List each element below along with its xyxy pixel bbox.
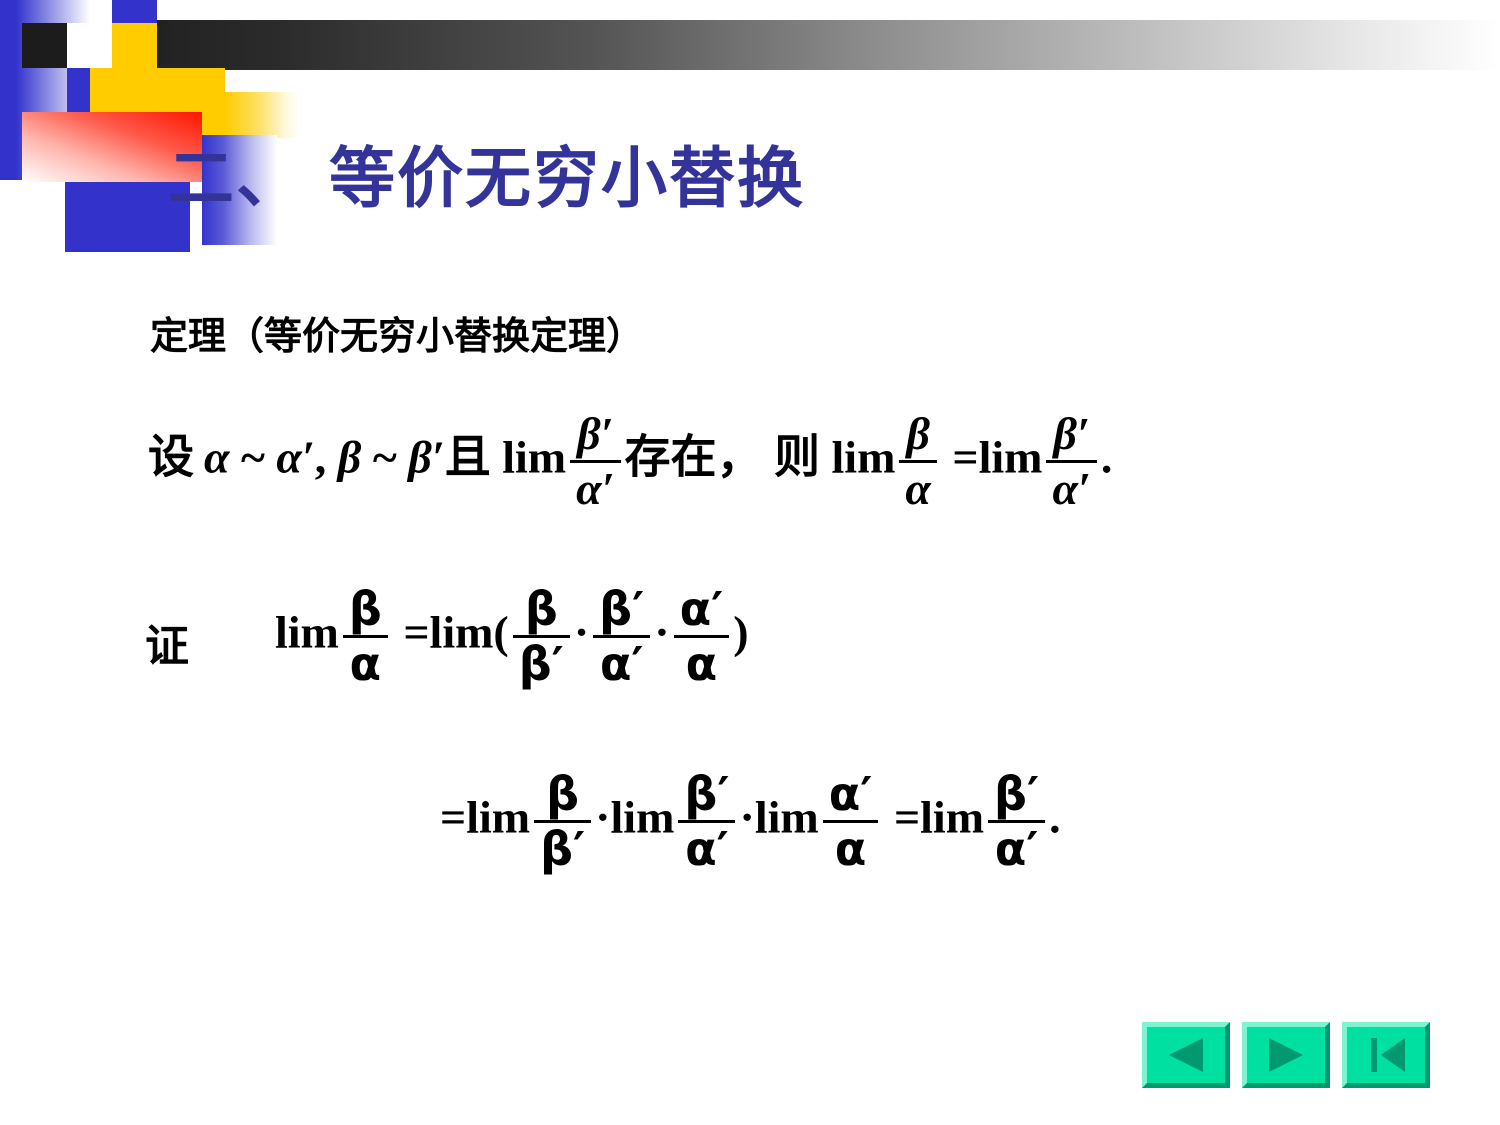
setup-exists: 存在，: [625, 429, 763, 483]
frac-denominator: α: [823, 825, 879, 873]
fraction-alpha-prime-over-alpha: α′α: [674, 585, 730, 689]
slide-navigation: [1142, 1022, 1430, 1088]
setup-prefix: 设: [148, 429, 194, 483]
setup-conj: 且: [445, 429, 491, 483]
first-slide-button[interactable]: [1342, 1022, 1430, 1088]
frac-denominator: β′: [534, 825, 591, 873]
setup-tilde-2: ~: [373, 431, 397, 482]
frac-denominator: α′: [678, 825, 735, 873]
setup-period: .: [1101, 431, 1113, 482]
setup-comma: ,: [315, 431, 327, 482]
proof2-dot-2: ·: [739, 791, 754, 842]
setup-lim-3: lim: [979, 431, 1043, 482]
frac-numerator: β: [343, 585, 388, 633]
frac-denominator: α: [343, 640, 388, 688]
frac-numerator: β′: [988, 770, 1045, 818]
proof-line-2: =limββ′·limβ′α′·limα′α =limβ′α′.: [440, 770, 1061, 874]
proof1-dot-2: ·: [654, 606, 669, 657]
setup-tilde-1: ~: [241, 431, 265, 482]
proof1-equals: =: [403, 606, 429, 657]
frac-numerator: β′: [1046, 410, 1096, 458]
frac-denominator: α′: [570, 465, 620, 513]
fraction-beta-over-alpha: βα: [899, 410, 936, 514]
fraction-alpha-prime-over-alpha: α′α: [823, 770, 879, 874]
frac-denominator: α′: [988, 825, 1045, 873]
frac-numerator: α′: [823, 770, 879, 818]
fraction-beta-prime-over-alpha-prime-final: β′α′: [988, 770, 1045, 874]
frac-numerator: α′: [674, 585, 730, 633]
fraction-beta-prime-over-alpha-prime: β′α′: [593, 585, 650, 689]
setup-beta: β: [338, 431, 362, 482]
proof1-close-paren: ): [733, 606, 748, 657]
proof1-lim: lim: [275, 606, 339, 657]
skip-to-start-icon: [1363, 1035, 1409, 1075]
setup-equals: =: [952, 431, 978, 482]
setup-beta-prime: β′: [408, 431, 445, 482]
fraction-beta-prime-over-alpha-prime-1: β′α′: [570, 410, 620, 514]
proof2-lim-1: lim: [466, 791, 530, 842]
frac-numerator: β: [534, 770, 591, 818]
triangle-right-icon: [1263, 1035, 1309, 1075]
proof2-lim-3: lim: [755, 791, 819, 842]
decor-square-yellow-1: [112, 23, 157, 68]
proof2-equals-2: =: [894, 791, 920, 842]
setup-then: 则: [774, 429, 820, 483]
triangle-left-icon: [1163, 1035, 1209, 1075]
proof2-dot-1: ·: [595, 791, 610, 842]
frac-denominator: α′: [1046, 465, 1096, 513]
setup-alpha-prime: α′: [276, 431, 314, 482]
decor-square-black-1: [22, 23, 67, 68]
setup-alpha: α: [204, 431, 229, 482]
theorem-statement-line: 设α ~ α′, β ~ β′且 limβ′α′存在， 则 limβα =lim…: [148, 410, 1112, 514]
fraction-beta-over-beta-prime: ββ′: [534, 770, 591, 874]
proof2-period: .: [1049, 791, 1061, 842]
frac-numerator: β′: [570, 410, 620, 458]
fraction-beta-over-alpha: βα: [343, 585, 388, 689]
proof1-lim-open: lim(: [430, 606, 509, 657]
proof-line-1: limβα =lim(ββ′·β′α′·α′α): [145, 585, 749, 689]
frac-denominator: β′: [513, 640, 570, 688]
proof1-dot-1: ·: [574, 606, 589, 657]
proof2-lim-2: lim: [611, 791, 675, 842]
frac-numerator: β′: [678, 770, 735, 818]
frac-numerator: β: [899, 410, 936, 458]
fraction-beta-prime-over-alpha-prime-2: β′α′: [1046, 410, 1096, 514]
page-title: 二、 等价无穷小替换: [168, 125, 805, 221]
proof2-lim-4: lim: [920, 791, 984, 842]
frac-denominator: α′: [593, 640, 650, 688]
theorem-heading: 定理（等价无穷小替换定理）: [150, 305, 644, 360]
next-slide-button[interactable]: [1242, 1022, 1330, 1088]
frac-numerator: β′: [593, 585, 650, 633]
frac-denominator: α: [674, 640, 730, 688]
decor-top-gradient-bar: [112, 20, 1500, 70]
frac-numerator: β: [513, 585, 570, 633]
setup-lim-1: lim: [502, 431, 566, 482]
proof2-equals-1: =: [440, 791, 466, 842]
fraction-beta-over-beta-prime: ββ′: [513, 585, 570, 689]
setup-lim-2: lim: [832, 431, 896, 482]
frac-denominator: α: [899, 465, 936, 513]
fraction-beta-prime-over-alpha-prime: β′α′: [678, 770, 735, 874]
previous-slide-button[interactable]: [1142, 1022, 1230, 1088]
